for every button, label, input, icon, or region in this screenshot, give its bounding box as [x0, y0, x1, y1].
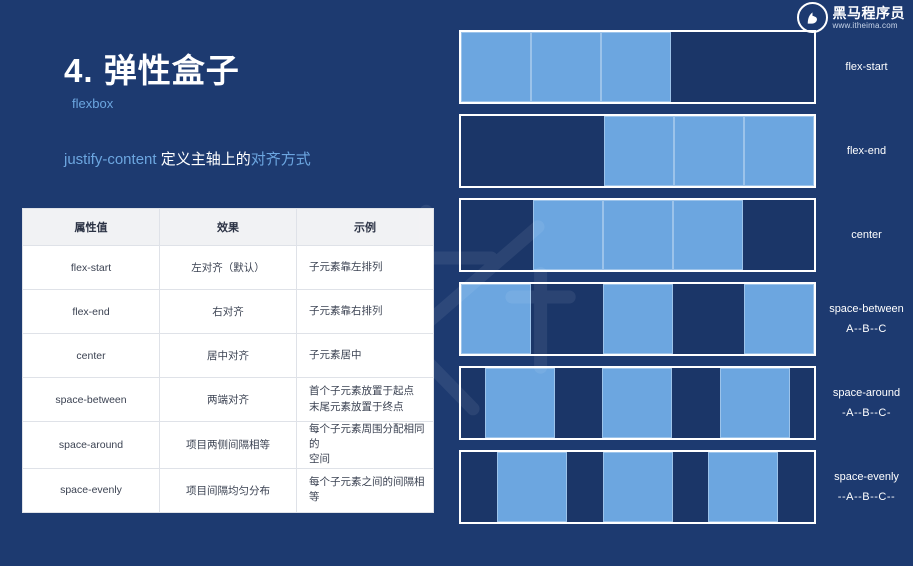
table-row: space-between 两端对齐 首个子元素放置于起点 末尾元素放置于终点: [23, 378, 434, 422]
demo-item: [461, 32, 531, 102]
diagram-label-space-evenly: space-evenly --A--B--C--: [816, 467, 913, 508]
diagram-label-flex-start: flex-start: [816, 57, 913, 77]
label-text: flex-start: [845, 61, 887, 73]
label-text: flex-end: [847, 145, 886, 157]
demo-item: [497, 452, 567, 522]
table-row: flex-start 左对齐（默认） 子元素靠左排列: [23, 246, 434, 290]
label-pattern: A--B--C: [820, 319, 913, 339]
column-header-example: 示例: [297, 209, 434, 246]
demo-item: [602, 368, 672, 438]
demo-item: [485, 368, 555, 438]
table-row: space-around 项目两侧间隔相等 每个子元素周围分配相同的 空间: [23, 422, 434, 469]
demo-container-space-evenly: [459, 450, 816, 524]
label-text: space-between: [829, 303, 904, 315]
table-row: flex-end 右对齐 子元素靠右排列: [23, 290, 434, 334]
cell-example: 每个子元素之间的间隔相等: [297, 468, 434, 512]
diagram-space-between: space-between A--B--C: [459, 282, 913, 356]
page-subtitle: flexbox: [72, 96, 113, 111]
label-text: space-around: [833, 387, 900, 399]
diagram-space-evenly: space-evenly --A--B--C--: [459, 450, 913, 524]
diagram-label-space-between: space-between A--B--C: [816, 299, 913, 340]
diagram-flex-start: flex-start: [459, 30, 913, 104]
cell-example: 每个子元素周围分配相同的 空间: [297, 422, 434, 469]
example-line: 子元素居中: [309, 348, 425, 363]
table-row: center 居中对齐 子元素居中: [23, 334, 434, 378]
lead-sentence: justify-content 定义主轴上的对齐方式: [64, 148, 311, 169]
cell-value: center: [23, 334, 160, 378]
demo-item: [603, 452, 673, 522]
cell-example: 首个子元素放置于起点 末尾元素放置于终点: [297, 378, 434, 422]
example-line: 每个子元素之间的间隔相等: [309, 475, 425, 505]
diagram-label-space-around: space-around -A--B--C-: [816, 383, 913, 424]
example-line: 空间: [309, 452, 425, 467]
demo-item: [604, 116, 674, 186]
diagram-flex-end: flex-end: [459, 114, 913, 188]
cell-value: space-around: [23, 422, 160, 469]
label-pattern: -A--B--C-: [820, 403, 913, 423]
cell-value: space-evenly: [23, 468, 160, 512]
demo-container-space-around: [459, 366, 816, 440]
cell-example: 子元素靠右排列: [297, 290, 434, 334]
lead-property-name: justify-content: [64, 151, 157, 168]
column-header-effect: 效果: [160, 209, 297, 246]
cell-effect: 居中对齐: [160, 334, 297, 378]
brand-name: 黑马程序员: [833, 6, 906, 20]
demo-item: [744, 284, 814, 354]
example-line: 每个子元素周围分配相同的: [309, 422, 425, 452]
demo-container-center: [459, 198, 816, 272]
cell-example: 子元素靠左排列: [297, 246, 434, 290]
example-line: 首个子元素放置于起点: [309, 384, 425, 399]
cell-value: space-between: [23, 378, 160, 422]
demo-item: [708, 452, 778, 522]
label-text: center: [851, 229, 882, 241]
demo-item: [601, 32, 671, 102]
demo-item: [720, 368, 790, 438]
label-text: space-evenly: [834, 471, 899, 483]
demo-item: [673, 200, 743, 270]
table-header-row: 属性值 效果 示例: [23, 209, 434, 246]
justify-content-diagrams: flex-start flex-end center space-betwe: [459, 0, 913, 566]
demo-container-space-between: [459, 282, 816, 356]
demo-container-flex-start: [459, 30, 816, 104]
cell-value: flex-end: [23, 290, 160, 334]
example-line: 末尾元素放置于终点: [309, 400, 425, 415]
demo-item: [603, 200, 673, 270]
page-title: 4. 弹性盒子: [64, 44, 240, 92]
diagram-label-center: center: [816, 225, 913, 245]
demo-item: [674, 116, 744, 186]
demo-item: [533, 200, 603, 270]
cell-effect: 两端对齐: [160, 378, 297, 422]
table-row: space-evenly 项目间隔均匀分布 每个子元素之间的间隔相等: [23, 468, 434, 512]
cell-effect: 项目间隔均匀分布: [160, 468, 297, 512]
diagram-space-around: space-around -A--B--C-: [459, 366, 913, 440]
column-header-value: 属性值: [23, 209, 160, 246]
justify-content-values-table: 属性值 效果 示例 flex-start 左对齐（默认） 子元素靠左排列 fle…: [22, 208, 434, 513]
lead-highlight-text: 对齐方式: [251, 151, 311, 168]
demo-item: [603, 284, 673, 354]
cell-example: 子元素居中: [297, 334, 434, 378]
demo-container-flex-end: [459, 114, 816, 188]
cell-effect: 右对齐: [160, 290, 297, 334]
horse-circle-logo-icon: [797, 2, 828, 33]
cell-effect: 项目两侧间隔相等: [160, 422, 297, 469]
cell-value: flex-start: [23, 246, 160, 290]
demo-item: [461, 284, 531, 354]
demo-item: [744, 116, 814, 186]
diagram-center: center: [459, 198, 913, 272]
label-pattern: --A--B--C--: [820, 487, 913, 507]
lead-middle-text: 定义主轴上的: [157, 151, 251, 168]
example-line: 子元素靠左排列: [309, 260, 425, 275]
left-content-pane: 4. 弹性盒子 flexbox justify-content 定义主轴上的对齐…: [0, 0, 455, 566]
diagram-label-flex-end: flex-end: [816, 141, 913, 161]
demo-item: [531, 32, 601, 102]
brand-logo: 黑马程序员 www.itheima.com: [797, 2, 906, 33]
cell-effect: 左对齐（默认）: [160, 246, 297, 290]
brand-url: www.itheima.com: [833, 22, 906, 30]
example-line: 子元素靠右排列: [309, 304, 425, 319]
